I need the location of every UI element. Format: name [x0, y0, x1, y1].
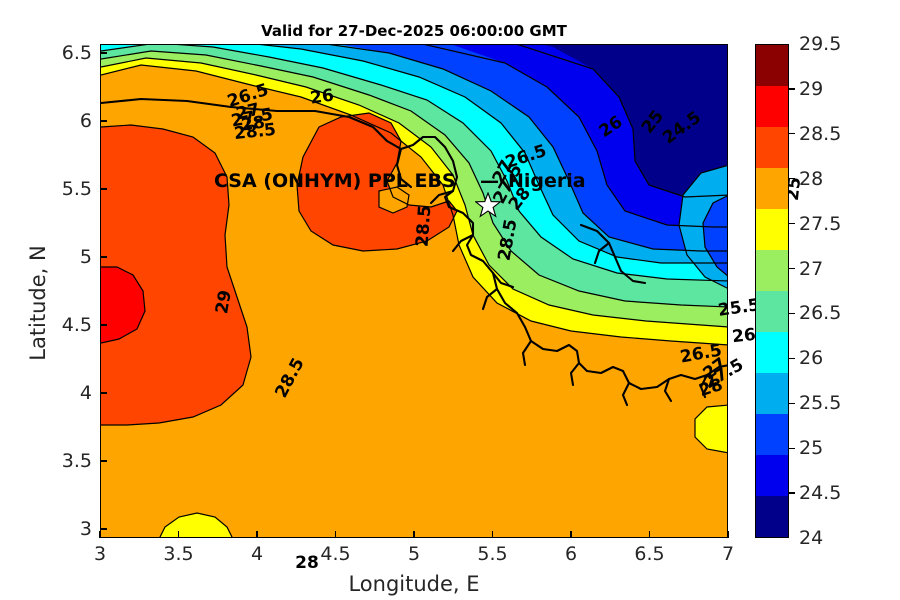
colorbar-tick-label: 25: [799, 437, 823, 459]
colorbar-tick: [789, 403, 795, 404]
y-axis-label: Latitude, N: [26, 203, 50, 403]
y-axis-tick: [100, 392, 107, 393]
x-axis-tick: [335, 531, 336, 538]
y-axis-tick-label: 6: [4, 110, 92, 132]
colorbar-tick-label: 25.5: [799, 392, 841, 414]
y-axis-tick: [100, 528, 107, 529]
colorbar-band: [756, 45, 788, 86]
colorbar-tick-label: 29: [799, 78, 823, 100]
colorbar-tick: [789, 448, 795, 449]
chart-root: Valid for 27-Dec-2025 06:00:00 GMT: [0, 0, 900, 600]
y-axis-tick: [100, 188, 107, 189]
x-axis-tick-label: 6: [565, 543, 577, 565]
x-axis-tick-label: 3: [94, 543, 106, 565]
x-axis-tick: [727, 531, 728, 538]
colorbar-band: [756, 291, 788, 332]
page-title: Valid for 27-Dec-2025 06:00:00 GMT: [100, 22, 728, 40]
x-axis-tick: [99, 531, 100, 538]
x-axis-label: Longitude, E: [100, 572, 728, 596]
colorbar-tick: [789, 133, 795, 134]
colorbar-band: [756, 496, 788, 537]
x-axis-tick: [570, 531, 571, 538]
colorbar-tick-label: 28.5: [799, 123, 841, 145]
x-axis-tick: [256, 531, 257, 538]
y-axis-tick: [100, 52, 107, 53]
colorbar-tick: [789, 178, 795, 179]
contour-map-svg: [101, 45, 728, 538]
x-axis-tick: [649, 531, 650, 538]
x-axis-tick: [178, 531, 179, 538]
colorbar-band: [756, 414, 788, 455]
map-plot-area[interactable]: [100, 44, 728, 538]
y-axis-tick-label: 3.5: [4, 450, 92, 472]
y-axis-tick: [100, 460, 107, 461]
colorbar-band: [756, 86, 788, 127]
colorbar-tick-label: 24: [799, 527, 823, 549]
colorbar[interactable]: [755, 44, 789, 538]
colorbar-tick-label: 27: [799, 258, 823, 280]
colorbar-tick-label: 26.5: [799, 302, 841, 324]
colorbar-band: [756, 373, 788, 414]
x-axis-tick-label: 4.5: [320, 543, 350, 565]
y-axis-tick-label: 3: [4, 518, 92, 540]
y-axis-tick-label: 5.5: [4, 178, 92, 200]
x-axis-tick-label: 5: [408, 543, 420, 565]
x-axis-tick-label: 6.5: [634, 543, 664, 565]
colorbar-tick-label: 26: [799, 347, 823, 369]
colorbar-band: [756, 332, 788, 373]
colorbar-tick-label: 24.5: [799, 482, 841, 504]
colorbar-tick-label: 27.5: [799, 213, 841, 235]
colorbar-tick: [789, 358, 795, 359]
x-axis-tick-label: 7: [722, 543, 734, 565]
colorbar-tick: [789, 492, 795, 493]
x-axis-tick: [413, 531, 414, 538]
contour-label: 28: [295, 553, 319, 573]
x-axis-tick: [492, 531, 493, 538]
colorbar-band: [756, 168, 788, 209]
colorbar-tick: [789, 313, 795, 314]
x-axis-tick-label: 5.5: [477, 543, 507, 565]
y-axis-tick: [100, 324, 107, 325]
y-axis-tick: [100, 120, 107, 121]
colorbar-band: [756, 250, 788, 291]
colorbar-band: [756, 209, 788, 250]
contour-bands: [101, 45, 728, 538]
colorbar-tick: [789, 268, 795, 269]
x-axis-tick-label: 4: [251, 543, 263, 565]
colorbar-tick: [789, 223, 795, 224]
colorbar-band: [756, 455, 788, 496]
contour-label: 26: [731, 325, 757, 347]
colorbar-tick-label: 29.5: [799, 33, 841, 55]
y-axis-tick-label: 6.5: [4, 42, 92, 64]
colorbar-band: [756, 127, 788, 168]
x-axis-tick-label: 3.5: [163, 543, 193, 565]
colorbar-tick-label: 28: [799, 168, 823, 190]
y-axis-tick: [100, 256, 107, 257]
colorbar-tick: [789, 88, 795, 89]
